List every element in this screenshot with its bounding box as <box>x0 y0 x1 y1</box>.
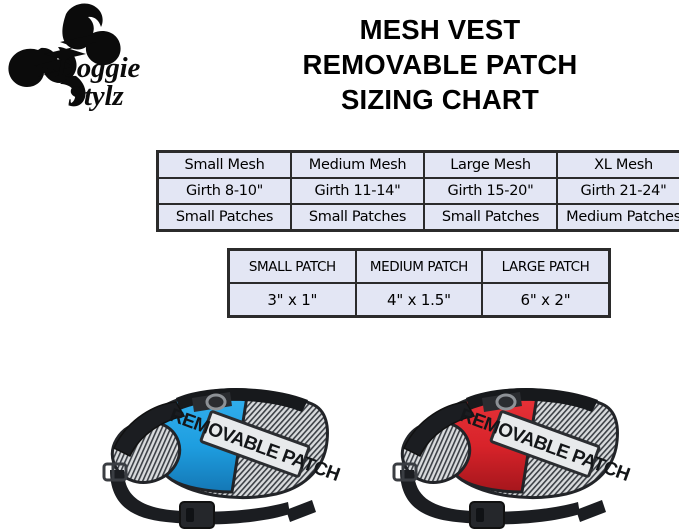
page-title: MESH VEST REMOVABLE PATCH SIZING CHART <box>210 12 670 118</box>
cell-patch-dimensions: 4" x 1.5" <box>357 284 482 315</box>
cell-patches: Small Patches <box>292 205 423 229</box>
page-title-line-2: REMOVABLE PATCH <box>210 47 670 82</box>
cell-patch-dimensions: 6" x 2" <box>483 284 608 315</box>
table-row-patch-dimensions: 3" x 1" 4" x 1.5" 6" x 2" <box>230 284 608 315</box>
cell-mesh-size: Small Mesh <box>159 153 290 177</box>
cell-girth: Girth 8-10" <box>159 179 290 203</box>
brand-name-line-1: Doggie <box>56 54 196 82</box>
table-row-girth: Girth 8-10" Girth 11-14" Girth 15-20" Gi… <box>159 179 679 203</box>
cell-girth: Girth 11-14" <box>292 179 423 203</box>
brand-wordmark: Doggie Stylz <box>56 54 196 111</box>
patch-sizing-table: SMALL PATCH MEDIUM PATCH LARGE PATCH 3" … <box>227 248 611 318</box>
table-row-mesh-size: Small Mesh Medium Mesh Large Mesh XL Mes… <box>159 153 679 177</box>
cell-patch-name: SMALL PATCH <box>230 251 355 282</box>
mesh-sizing-table: Small Mesh Medium Mesh Large Mesh XL Mes… <box>156 150 679 232</box>
cell-patches: Small Patches <box>425 205 556 229</box>
cell-patches: Small Patches <box>159 205 290 229</box>
chart-header: Doggie Stylz MESH VEST REMOVABLE PATCH S… <box>0 0 679 140</box>
cell-patch-dimensions: 3" x 1" <box>230 284 355 315</box>
dog-harness-red-icon: REMOVABLE PATCH <box>370 352 640 532</box>
cell-patch-name: MEDIUM PATCH <box>357 251 482 282</box>
page-title-line-3: SIZING CHART <box>210 82 670 117</box>
cell-patches: Medium Patches <box>558 205 679 229</box>
brand-name-line-2: Stylz <box>68 82 196 110</box>
product-photo-row: REMOVABLE PATCH <box>0 352 679 532</box>
cell-girth: Girth 21-24" <box>558 179 679 203</box>
cell-patch-name: LARGE PATCH <box>483 251 608 282</box>
table-row-patches: Small Patches Small Patches Small Patche… <box>159 205 679 229</box>
page-title-line-1: MESH VEST <box>210 12 670 47</box>
cell-girth: Girth 15-20" <box>425 179 556 203</box>
cell-mesh-size: XL Mesh <box>558 153 679 177</box>
brand-logo: Doggie Stylz <box>4 2 194 138</box>
table-row-patch-name: SMALL PATCH MEDIUM PATCH LARGE PATCH <box>230 251 608 282</box>
cell-mesh-size: Large Mesh <box>425 153 556 177</box>
cell-mesh-size: Medium Mesh <box>292 153 423 177</box>
dog-harness-blue-icon: REMOVABLE PATCH <box>80 352 350 532</box>
